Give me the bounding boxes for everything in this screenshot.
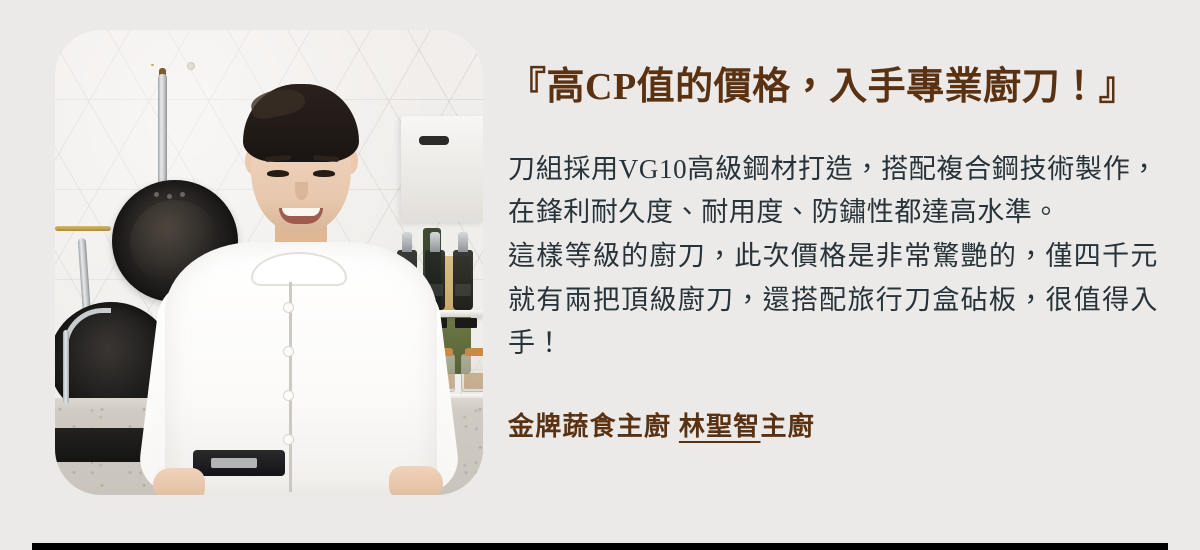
chef-name: 林聖智 bbox=[679, 412, 761, 441]
testimonial-paragraph-2: 這樣等級的廚刀，此次價格是非常驚艷的，僅四千元就有兩把頂級廚刀，還搭配旅行刀盒砧… bbox=[508, 235, 1158, 366]
chef-hair bbox=[243, 84, 359, 162]
chef-coat-button bbox=[283, 346, 294, 357]
chef-figure bbox=[147, 84, 447, 495]
chef-nose bbox=[295, 182, 308, 200]
testimonial-content: 『高CP值的價格，入手專業廚刀！』 刀組採用VG10高級鋼材打造，搭配複合鋼技術… bbox=[508, 64, 1158, 443]
testimonial-banner: 『高CP值的價格，入手專業廚刀！』 刀組採用VG10高級鋼材打造，搭配複合鋼技術… bbox=[0, 0, 1200, 550]
brass-bar-upper-icon bbox=[55, 226, 111, 231]
induction-hob-icon bbox=[193, 450, 285, 476]
chef-coat-button bbox=[283, 390, 294, 401]
chef-photo bbox=[55, 30, 483, 495]
chef-signature: 金牌蔬食主廚 林聖智主廚 bbox=[508, 406, 1158, 443]
testimonial-body: 刀組採用VG10高級鋼材打造，搭配複合鋼技術製作，在鋒利耐久度、耐用度、防鏽性都… bbox=[508, 148, 1158, 367]
chef-hand-right bbox=[389, 466, 443, 495]
hob-badge-icon bbox=[211, 458, 257, 468]
bottom-divider bbox=[32, 543, 1168, 550]
testimonial-paragraph-1: 刀組採用VG10高級鋼材打造，搭配複合鋼技術製作，在鋒利耐久度、耐用度、防鏽性都… bbox=[508, 148, 1158, 235]
headline: 『高CP值的價格，入手專業廚刀！』 bbox=[508, 64, 1158, 112]
chef-eye-left bbox=[267, 170, 289, 177]
signature-title-suffix: 主廚 bbox=[761, 412, 815, 441]
faucet-column-icon bbox=[63, 330, 69, 404]
shelf-label-icon bbox=[455, 318, 477, 328]
spice-jar-icon bbox=[461, 354, 483, 392]
chef-eye-right bbox=[313, 170, 335, 177]
wall-knob-icon bbox=[187, 62, 195, 70]
chef-coat-placket bbox=[289, 282, 292, 492]
chef-hand-left bbox=[153, 468, 205, 495]
signature-title-prefix: 金牌蔬食主廚 bbox=[508, 412, 679, 441]
brass-rail-icon bbox=[151, 64, 154, 66]
oil-bottle-icon bbox=[453, 250, 473, 310]
chef-coat-button bbox=[283, 302, 294, 313]
chef-coat-button bbox=[283, 434, 294, 445]
kitchen-scene bbox=[55, 30, 483, 495]
